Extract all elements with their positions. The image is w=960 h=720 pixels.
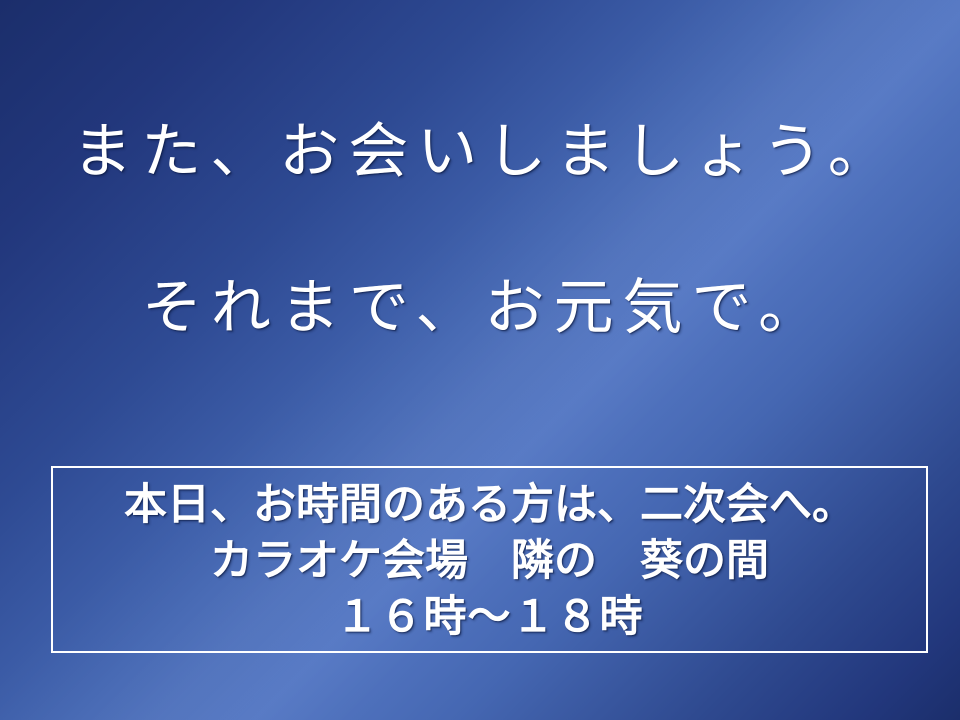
notice-box: 本日、お時間のある方は、二次会へ。 カラオケ会場 隣の 葵の間 １６時～１８時 [51, 466, 928, 653]
notice-line-after-party: 本日、お時間のある方は、二次会へ。 [53, 477, 926, 533]
notice-line-time: １６時～１８時 [53, 589, 926, 645]
headline-line-2: それまで、お元気で。 [0, 278, 960, 338]
headline-line-1: また、お会いしましょう。 [0, 122, 960, 182]
presentation-slide: また、お会いしましょう。 それまで、お元気で。 本日、お時間のある方は、二次会へ… [0, 0, 960, 720]
notice-line-venue: カラオケ会場 隣の 葵の間 [53, 533, 926, 589]
